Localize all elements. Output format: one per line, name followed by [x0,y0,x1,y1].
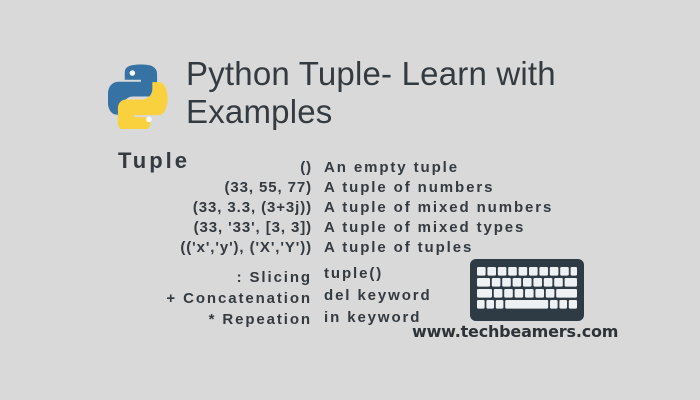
poster-canvas: Python Tuple- Learn with Examples Tuple … [0,0,700,400]
tuple-examples-table: () An empty tuple (33, 55, 77) A tuple o… [60,158,640,258]
tuple-example-code: (33, 55, 77) [60,178,312,198]
tuple-example-code: (33, 3.3, (3+3j)) [60,198,312,218]
tuple-example-code: (33, '33', [3, 3]) [60,218,312,238]
tuple-example-desc: A tuple of tuples [324,238,640,258]
tuple-operators-list: : Slicing + Concatenation * Repeation [60,267,312,330]
tuple-example-desc: An empty tuple [324,158,640,178]
operator-item: + Concatenation [60,288,312,309]
operator-item: : Slicing [60,267,312,288]
header: Python Tuple- Learn with Examples [108,55,628,131]
website-url: www.techbeamers.com [412,322,612,341]
tuple-example-desc: A tuple of mixed types [324,218,640,238]
tuple-example-code: () [60,158,312,178]
tuple-example-code: (('x','y'), ('X','Y')) [60,238,312,258]
keyword-item: tuple() [324,263,432,285]
tuple-keywords-list: tuple() del keyword in keyword [324,263,432,329]
keyword-item: del keyword [324,285,432,307]
python-logo-icon [108,61,174,129]
operator-item: * Repeation [60,309,312,330]
tuple-example-desc: A tuple of numbers [324,178,640,198]
tuple-example-desc: A tuple of mixed numbers [324,198,640,218]
keyboard-icon [470,259,584,321]
page-title: Python Tuple- Learn with Examples [186,55,606,131]
